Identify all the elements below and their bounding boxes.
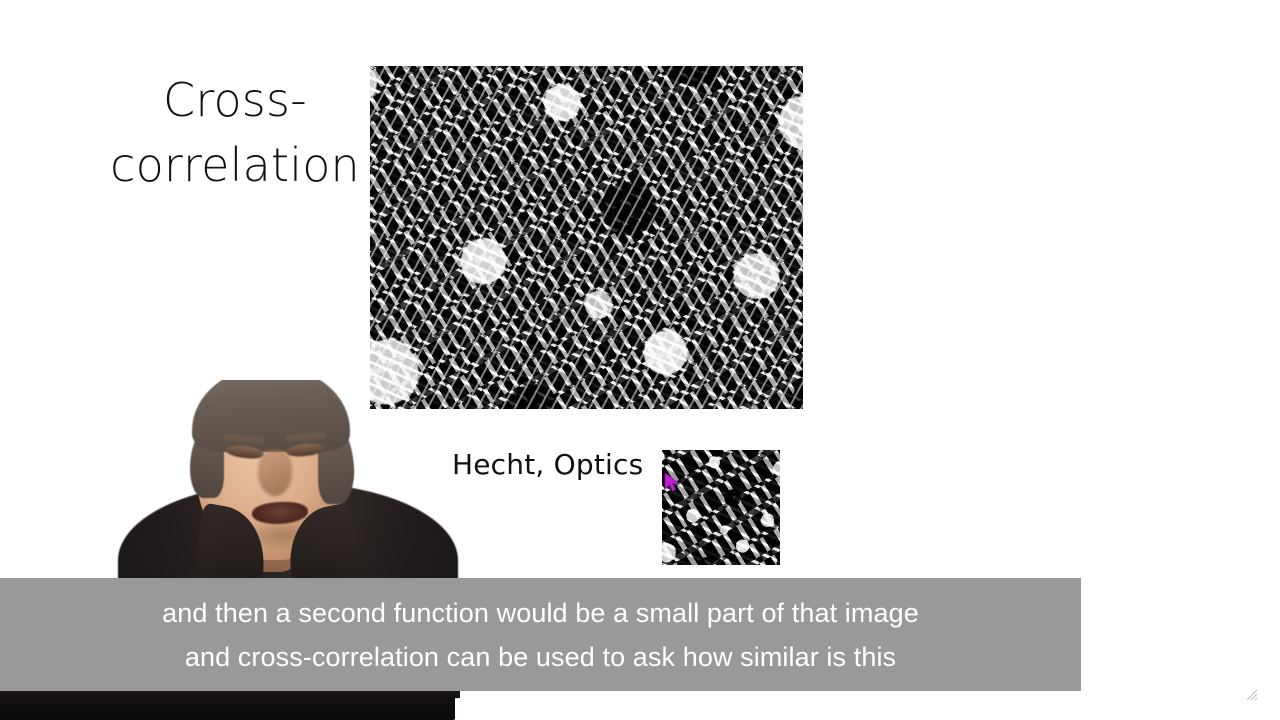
aerial-photo-inset bbox=[662, 450, 780, 565]
laptop bbox=[0, 686, 455, 720]
aerial-photo-large bbox=[370, 66, 803, 409]
video-frame: Cross- correlation Hecht, Optics bbox=[0, 0, 1280, 720]
caption-line-1: and then a second function would be a sm… bbox=[162, 592, 919, 634]
caption-line-2: and cross-correlation can be used to ask… bbox=[185, 636, 896, 678]
inset-texture-streets bbox=[662, 450, 780, 565]
caption-bar: and then a second function would be a sm… bbox=[0, 578, 1081, 691]
hair-top bbox=[192, 380, 350, 452]
slide-title: Cross- correlation bbox=[110, 68, 360, 199]
resize-grip-icon[interactable] bbox=[1242, 685, 1258, 701]
image-credit: Hecht, Optics bbox=[452, 448, 643, 481]
aerial-texture-highlights bbox=[370, 66, 803, 409]
nose bbox=[258, 450, 292, 496]
